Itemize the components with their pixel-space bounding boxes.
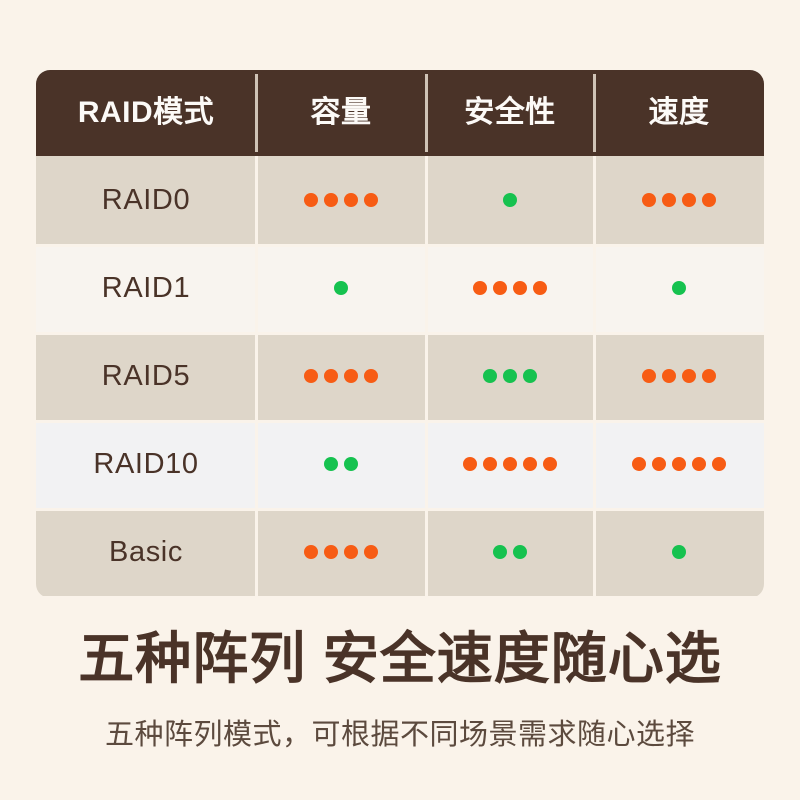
rating-dots xyxy=(493,508,527,596)
orange-dot-icon xyxy=(642,369,656,383)
orange-dot-icon xyxy=(344,193,358,207)
mode-label: RAID1 xyxy=(102,274,190,303)
green-dot-icon xyxy=(672,545,686,559)
mode-label: RAID5 xyxy=(102,362,190,391)
headline-title: 五种阵列 安全速度随心选 xyxy=(0,628,800,691)
orange-dot-icon xyxy=(523,457,537,471)
orange-dot-icon xyxy=(304,193,318,207)
table-row: Basic xyxy=(36,508,764,596)
orange-dot-icon xyxy=(702,369,716,383)
cell-rating-speed xyxy=(594,332,764,420)
cell-rating-security xyxy=(426,156,594,244)
green-dot-icon xyxy=(523,369,537,383)
cell-rating-security xyxy=(426,332,594,420)
rating-dots xyxy=(334,244,348,332)
cell-rating-speed xyxy=(594,244,764,332)
orange-dot-icon xyxy=(662,193,676,207)
cell-rating-speed xyxy=(594,156,764,244)
orange-dot-icon xyxy=(543,457,557,471)
rating-dots xyxy=(304,332,378,420)
table-row: RAID0 xyxy=(36,156,764,244)
header-cell-security: 安全性 xyxy=(426,70,594,156)
orange-dot-icon xyxy=(702,193,716,207)
orange-dot-icon xyxy=(473,281,487,295)
green-dot-icon xyxy=(672,281,686,295)
raid-comparison-table: RAID模式 容量 安全性 速度 RAID0RAID1RAID5RAID10Ba… xyxy=(36,70,764,598)
green-dot-icon xyxy=(513,545,527,559)
cell-mode-name: Basic xyxy=(36,508,256,596)
green-dot-icon xyxy=(324,457,338,471)
header-label-security: 安全性 xyxy=(464,98,556,128)
header-cell-capacity: 容量 xyxy=(256,70,426,156)
orange-dot-icon xyxy=(364,369,378,383)
orange-dot-icon xyxy=(304,545,318,559)
orange-dot-icon xyxy=(493,281,507,295)
header-cell-mode: RAID模式 xyxy=(36,70,256,156)
header-label-speed: 速度 xyxy=(649,98,710,128)
orange-dot-icon xyxy=(503,457,517,471)
headline-subtitle: 五种阵列模式，可根据不同场景需求随心选择 xyxy=(0,718,800,753)
orange-dot-icon xyxy=(533,281,547,295)
page-root: RAID模式 容量 安全性 速度 RAID0RAID1RAID5RAID10Ba… xyxy=(0,0,800,800)
rating-dots xyxy=(672,244,686,332)
rating-dots xyxy=(642,156,716,244)
orange-dot-icon xyxy=(324,545,338,559)
table-body: RAID0RAID1RAID5RAID10Basic xyxy=(36,156,764,596)
green-dot-icon xyxy=(503,369,517,383)
orange-dot-icon xyxy=(672,457,686,471)
orange-dot-icon xyxy=(652,457,666,471)
mode-label: RAID10 xyxy=(93,450,198,479)
green-dot-icon xyxy=(334,281,348,295)
orange-dot-icon xyxy=(682,193,696,207)
cell-rating-security xyxy=(426,508,594,596)
cell-rating-security xyxy=(426,244,594,332)
mode-label: Basic xyxy=(109,538,183,567)
orange-dot-icon xyxy=(324,193,338,207)
table-header-row: RAID模式 容量 安全性 速度 xyxy=(36,70,764,156)
header-label-capacity: 容量 xyxy=(311,98,372,128)
rating-dots xyxy=(642,332,716,420)
orange-dot-icon xyxy=(364,545,378,559)
cell-rating-capacity xyxy=(256,332,426,420)
table-row: RAID10 xyxy=(36,420,764,508)
rating-dots xyxy=(632,420,726,508)
orange-dot-icon xyxy=(642,193,656,207)
rating-dots xyxy=(672,508,686,596)
cell-mode-name: RAID5 xyxy=(36,332,256,420)
cell-rating-capacity xyxy=(256,508,426,596)
rating-dots xyxy=(304,156,378,244)
header-cell-speed: 速度 xyxy=(594,70,764,156)
orange-dot-icon xyxy=(304,369,318,383)
table-row: RAID5 xyxy=(36,332,764,420)
cell-mode-name: RAID0 xyxy=(36,156,256,244)
orange-dot-icon xyxy=(364,193,378,207)
rating-dots xyxy=(463,420,557,508)
orange-dot-icon xyxy=(324,369,338,383)
orange-dot-icon xyxy=(463,457,477,471)
cell-rating-speed xyxy=(594,420,764,508)
orange-dot-icon xyxy=(513,281,527,295)
orange-dot-icon xyxy=(712,457,726,471)
orange-dot-icon xyxy=(483,457,497,471)
orange-dot-icon xyxy=(662,369,676,383)
green-dot-icon xyxy=(483,369,497,383)
rating-dots xyxy=(483,332,537,420)
cell-mode-name: RAID1 xyxy=(36,244,256,332)
orange-dot-icon xyxy=(344,545,358,559)
cell-rating-capacity xyxy=(256,244,426,332)
table-row: RAID1 xyxy=(36,244,764,332)
cell-mode-name: RAID10 xyxy=(36,420,256,508)
cell-rating-security xyxy=(426,420,594,508)
green-dot-icon xyxy=(344,457,358,471)
header-label-mode: RAID模式 xyxy=(78,98,214,128)
rating-dots xyxy=(503,156,517,244)
green-dot-icon xyxy=(503,193,517,207)
cell-rating-capacity xyxy=(256,156,426,244)
rating-dots xyxy=(304,508,378,596)
cell-rating-speed xyxy=(594,508,764,596)
orange-dot-icon xyxy=(344,369,358,383)
rating-dots xyxy=(324,420,358,508)
rating-dots xyxy=(473,244,547,332)
green-dot-icon xyxy=(493,545,507,559)
orange-dot-icon xyxy=(692,457,706,471)
mode-label: RAID0 xyxy=(102,186,190,215)
cell-rating-capacity xyxy=(256,420,426,508)
orange-dot-icon xyxy=(632,457,646,471)
orange-dot-icon xyxy=(682,369,696,383)
